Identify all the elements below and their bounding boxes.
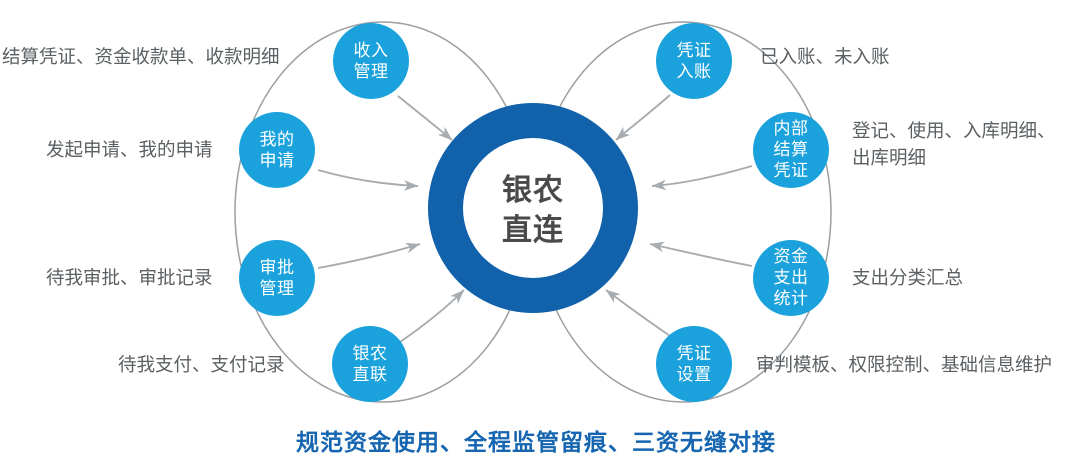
desc-voucher-posting: 已入账、未入账 — [760, 44, 890, 71]
node-label-line2: 设置 — [677, 365, 712, 384]
node-label-line2: 入账 — [677, 62, 712, 81]
node-approval-management[interactable]: 审批 管理 — [239, 240, 315, 316]
node-label-line3: 统计 — [774, 289, 809, 308]
node-label-line1: 凭证 — [677, 344, 712, 363]
left-node-group: 收入 管理 我的 申请 审批 管理 银农 直联 — [239, 23, 409, 402]
node-label-line2: 支出 — [774, 268, 809, 287]
arrow-income-management — [398, 96, 452, 140]
arrow-business-settings — [606, 290, 670, 336]
node-label-line1: 内部 — [774, 119, 809, 138]
diagram-canvas: 银农 直连 收入 管理 我的 申请 审批 管理 银农 直联 — [0, 0, 1072, 471]
node-label-line1: 收入 — [354, 41, 389, 60]
node-circle[interactable] — [239, 240, 315, 316]
node-label-line1: 银农 — [353, 344, 388, 363]
arrow-fund-expenditure — [650, 244, 752, 266]
arrow-bank-village-direct — [400, 290, 464, 342]
arrow-approval-management — [318, 244, 420, 268]
node-voucher-posting[interactable]: 凭证 入账 — [656, 23, 732, 99]
diagram-caption: 规范资金使用、全程监管留痕、三资无缝对接 — [0, 423, 1072, 457]
node-my-application[interactable]: 我的 申请 — [239, 112, 315, 188]
node-label-line1: 资金 — [774, 247, 809, 266]
node-label-line2: 直联 — [353, 365, 388, 384]
node-business-settings[interactable]: 凭证 设置 — [656, 326, 732, 402]
arrow-voucher-posting — [616, 95, 670, 140]
desc-fund-expenditure-statistics: 支出分类汇总 — [852, 265, 963, 292]
desc-business-settings: 审判模板、权限控制、基础信息维护 — [756, 352, 1052, 379]
center-ring-hole — [463, 138, 603, 278]
node-label-line2: 申请 — [260, 151, 295, 170]
node-income-management[interactable]: 收入 管理 — [333, 23, 409, 99]
node-circle[interactable] — [656, 23, 732, 99]
node-internal-settlement-voucher[interactable]: 内部 结算 凭证 — [753, 112, 829, 188]
node-bank-village-direct[interactable]: 银农 直联 — [332, 326, 408, 402]
desc-approval-management: 待我审批、审批记录 — [46, 265, 213, 292]
desc-my-application: 发起申请、我的申请 — [46, 137, 213, 164]
arrow-my-application — [318, 170, 418, 186]
center-hub: 银农 直连 — [428, 103, 638, 313]
center-label-line1: 银农 — [502, 174, 564, 207]
node-circle[interactable] — [239, 112, 315, 188]
node-label-line1: 凭证 — [677, 41, 712, 60]
node-fund-expenditure-statistics[interactable]: 资金 支出 统计 — [753, 240, 829, 316]
arrow-internal-settlement — [652, 166, 752, 186]
node-label-line2: 管理 — [260, 279, 295, 298]
node-label-line1: 审批 — [260, 258, 295, 277]
node-label-line1: 我的 — [260, 130, 295, 149]
node-circle[interactable] — [333, 23, 409, 99]
desc-bank-village-direct: 待我支付、支付记录 — [118, 352, 285, 379]
right-node-group: 凭证 入账 内部 结算 凭证 资金 支出 统计 凭证 设置 — [656, 23, 829, 402]
node-label-line2: 结算 — [774, 140, 809, 159]
desc-income-management: 结算凭证、资金收款单、收款明细 — [2, 44, 280, 71]
node-circle[interactable] — [656, 326, 732, 402]
center-label-line2: 直连 — [502, 214, 564, 247]
node-label-line2: 管理 — [354, 62, 389, 81]
node-label-line3: 凭证 — [774, 161, 809, 180]
desc-internal-settlement-voucher: 登记、使用、入库明细、出库明细 — [852, 118, 1066, 172]
node-circle[interactable] — [332, 326, 408, 402]
